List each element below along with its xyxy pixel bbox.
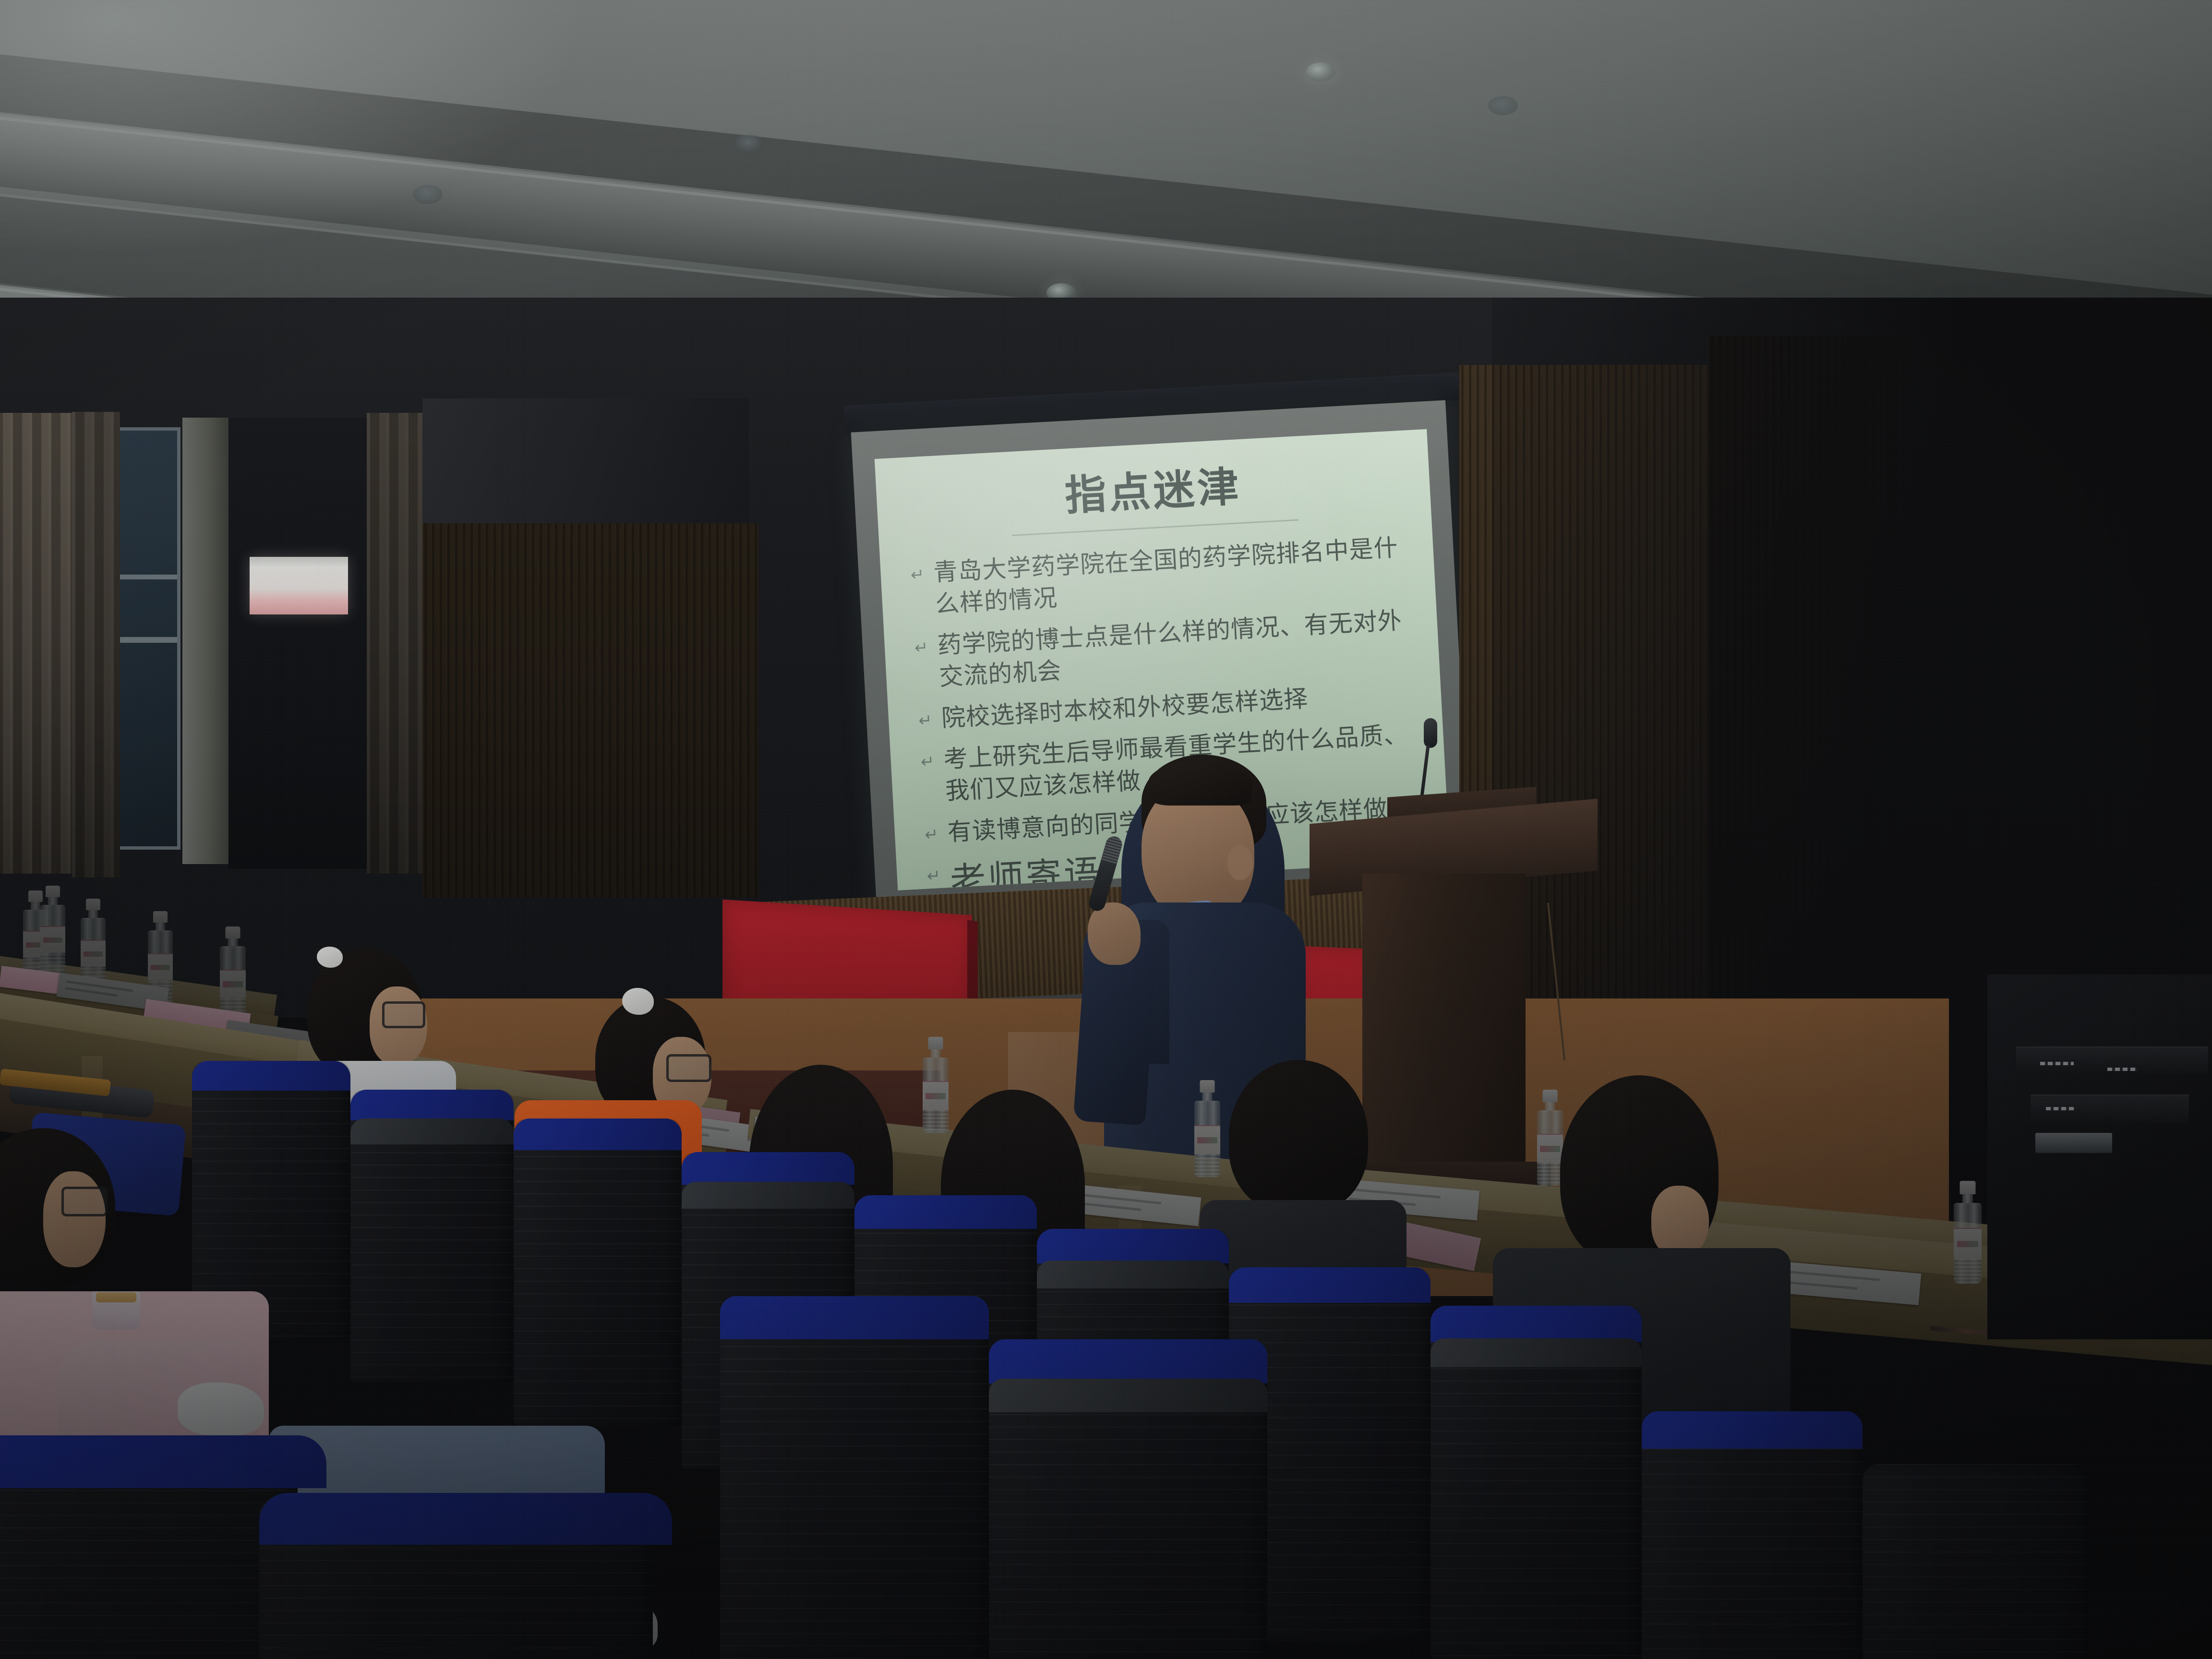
slide-closing-text: 老师寄语: [949, 853, 1103, 890]
seat-blue-trim: [0, 1435, 326, 1488]
seat-gray-band: [1431, 1338, 1642, 1367]
seat-blue-trim: [682, 1152, 854, 1185]
bullet-marker-icon: ↵: [910, 564, 926, 586]
slide-bullet-text: 药学院的博士点是什么样的情况、有无对外交流的机会: [937, 607, 1403, 690]
shoe: [178, 1382, 264, 1435]
doorway: [228, 418, 368, 869]
water-bottle: [219, 926, 247, 1021]
bullet-marker-icon: ↵: [918, 709, 933, 732]
seat-blue-trim: [1229, 1267, 1431, 1303]
seat-gray-band: [989, 1379, 1267, 1412]
eyeglasses: [61, 1187, 108, 1216]
student-head: [1229, 1060, 1368, 1214]
bullet-marker-icon: ↵: [926, 865, 944, 888]
seat-blue-trim: [192, 1061, 350, 1091]
seat-blue-trim: [854, 1195, 1037, 1229]
ceiling-downlight: [734, 134, 764, 154]
seat-blue-trim: [720, 1296, 989, 1339]
ceiling-downlight: [1488, 96, 1518, 115]
curtain-mid: [72, 412, 120, 878]
bullet-marker-icon: ↵: [924, 824, 939, 846]
student-neck: [1651, 1186, 1709, 1258]
rack-indicator-leds: [2046, 1107, 2075, 1110]
hair-accessory: [317, 947, 343, 968]
seat-blue-trim: [259, 1493, 672, 1545]
seat-blue-trim: [1431, 1306, 1642, 1342]
podium-body: [1362, 874, 1526, 1200]
speaker-hand: [1088, 902, 1141, 965]
water-bottle: [1193, 1080, 1221, 1177]
slide-bullet-text: 院校选择时本校和外校要怎样选择: [941, 685, 1309, 732]
auditorium-seat[interactable]: [514, 1118, 682, 1426]
rack-tray: [2035, 1133, 2112, 1153]
ceiling-downlight: [1306, 62, 1335, 82]
eyeglasses: [382, 1001, 425, 1028]
ceiling-downlight: [413, 185, 443, 204]
seat-blue-trim: [1642, 1411, 1863, 1449]
auditorium-seat-foreground[interactable]: [720, 1296, 989, 1659]
seat-blue-trim: [1037, 1229, 1229, 1263]
hair-accessory: [622, 988, 654, 1015]
snack-cup[interactable]: [92, 1291, 140, 1330]
wood-wall-left: [422, 523, 758, 898]
water-bottle: [39, 886, 66, 977]
water-bottle: [1953, 1181, 1983, 1284]
rack-slot: [2016, 1046, 2208, 1075]
seat-blue-trim: [989, 1339, 1267, 1383]
slide-divider: [1011, 519, 1298, 536]
speaker-hair-front: [1148, 761, 1251, 805]
speaker-ear: [1227, 845, 1253, 880]
seat-gray-band: [1037, 1261, 1229, 1288]
foreground-student-face: [43, 1171, 106, 1267]
auditorium-seat[interactable]: [1863, 1464, 2088, 1659]
wall-pillar: [182, 418, 228, 864]
seat-gray-band: [350, 1118, 514, 1144]
slide-bullet-text: 青岛大学药学院在全国的药学院排名中是什么样的情况: [933, 534, 1399, 617]
wall-display-panel: [250, 557, 348, 614]
rack-indicator-leds: [2107, 1068, 2137, 1071]
seat-blue-trim: [350, 1090, 514, 1120]
seat-blue-trim: [514, 1118, 682, 1150]
seat-gray-band: [682, 1182, 854, 1209]
av-equipment-rack: [1987, 974, 2212, 1339]
curtain-right-of-door: [367, 413, 430, 874]
bullet-marker-icon: ↵: [914, 637, 929, 659]
gooseneck-mic-head-icon: [1424, 718, 1437, 748]
slide-title: 指点迷津: [904, 456, 1402, 528]
rack-indicator-leds: [2040, 1062, 2074, 1065]
snack-contents: [96, 1292, 136, 1302]
dark-wall-right: [1492, 298, 2212, 1066]
eyeglasses: [666, 1054, 711, 1082]
bullet-marker-icon: ↵: [920, 751, 936, 773]
lecture-hall-photo: 指点迷津 ↵ 青岛大学药学院在全国的药学院排名中是什么样的情况 ↵ 药学院的博士…: [0, 0, 2212, 1659]
water-bottle: [922, 1037, 950, 1133]
